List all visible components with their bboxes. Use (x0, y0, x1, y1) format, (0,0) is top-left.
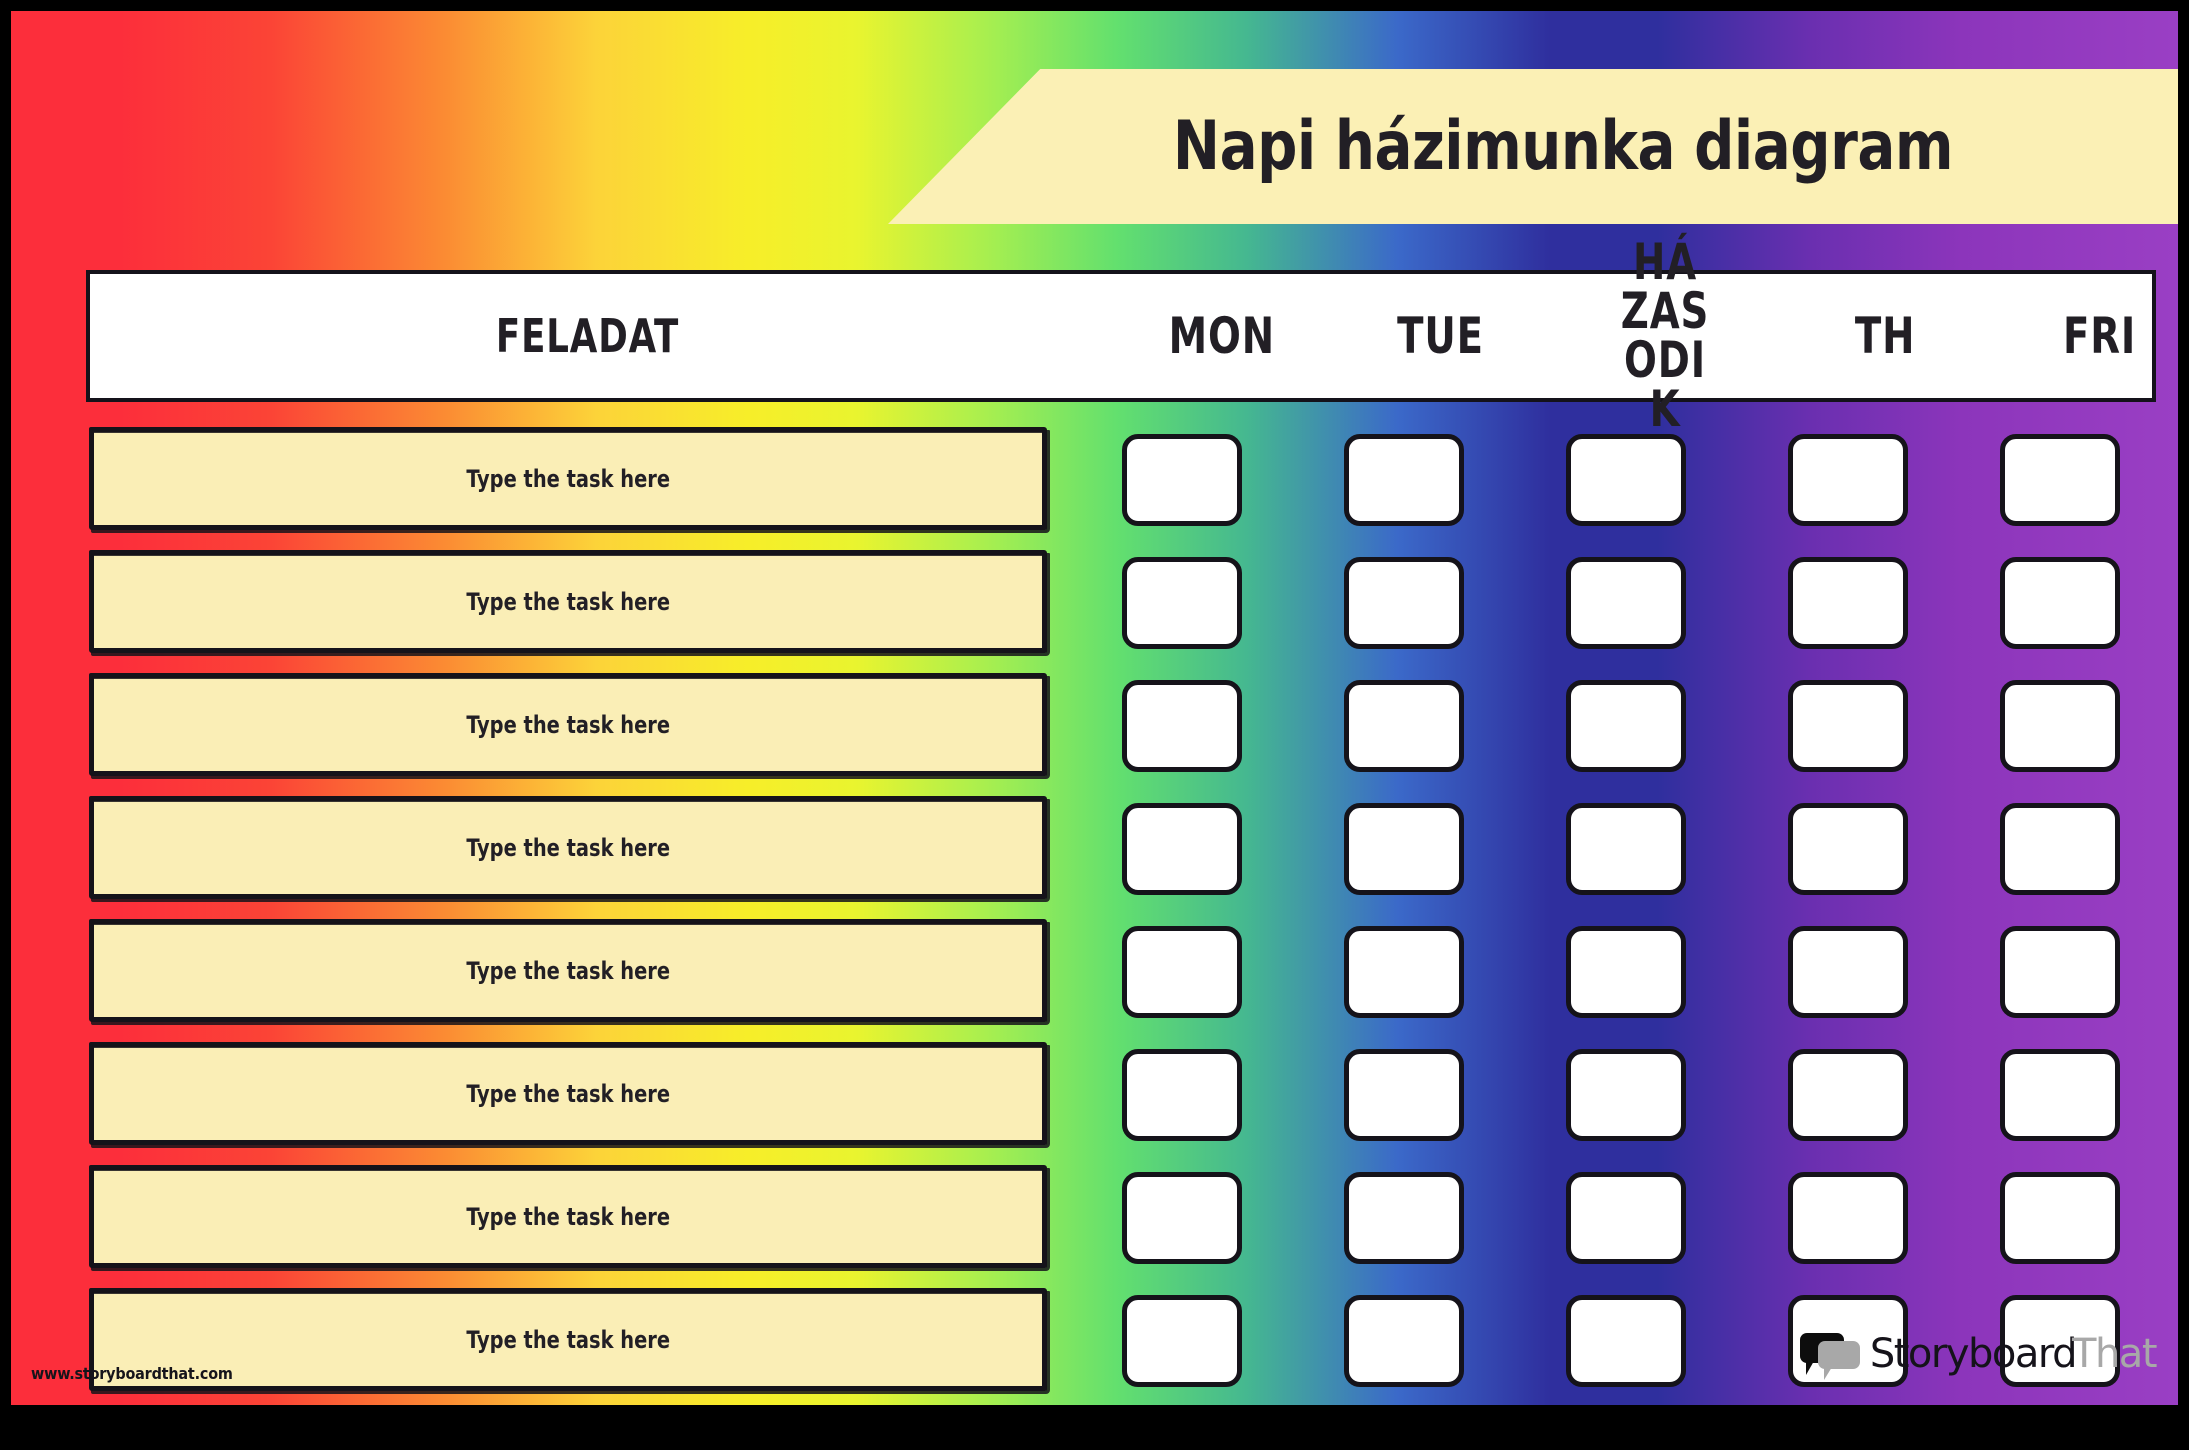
checkbox-hazasodik[interactable] (1566, 1049, 1686, 1141)
checkbox-hazasodik[interactable] (1566, 1172, 1686, 1264)
checkbox-tue[interactable] (1344, 1295, 1464, 1387)
speech-bubbles-icon (1798, 1331, 1864, 1377)
speech-bubble-front-icon (1818, 1341, 1860, 1369)
header-day-label-hazasodik: HÁZASODIK (1619, 238, 1712, 434)
header-day-label-fri: FRI (2063, 311, 2136, 361)
checkbox-mon[interactable] (1122, 557, 1242, 649)
checkbox-fri[interactable] (2000, 434, 2120, 526)
checkbox-tue[interactable] (1344, 926, 1464, 1018)
task-input-box[interactable]: Type the task here (93, 555, 1043, 649)
header-day-label-th: TH (1855, 311, 1915, 361)
header-cell-mon: MON (1137, 274, 1307, 398)
table-row: Type the task here (11, 918, 2178, 1041)
checkbox-th[interactable] (1788, 1049, 1908, 1141)
task-placeholder-text: Type the task here (466, 1203, 670, 1231)
checkbox-th[interactable] (1788, 803, 1908, 895)
checkbox-th[interactable] (1788, 926, 1908, 1018)
checkbox-th[interactable] (1788, 680, 1908, 772)
table-row: Type the task here (11, 1041, 2178, 1164)
checkbox-mon[interactable] (1122, 680, 1242, 772)
checkbox-fri[interactable] (2000, 557, 2120, 649)
checkbox-fri[interactable] (2000, 680, 2120, 772)
task-placeholder-text: Type the task here (466, 1326, 670, 1354)
task-input-box[interactable]: Type the task here (93, 1293, 1043, 1387)
header-cell-tue: TUE (1355, 274, 1525, 398)
checkbox-hazasodik[interactable] (1566, 803, 1686, 895)
checkbox-th[interactable] (1788, 557, 1908, 649)
checkbox-tue[interactable] (1344, 680, 1464, 772)
checkbox-hazasodik[interactable] (1566, 557, 1686, 649)
header-day-label-mon: MON (1169, 311, 1275, 361)
header-cell-th: TH (1800, 274, 1970, 398)
header-task-label: FELADAT (496, 309, 679, 363)
table-header-row: FELADAT MON TUE HÁZASODIK TH FRI (86, 270, 2156, 402)
task-placeholder-text: Type the task here (466, 1080, 670, 1108)
checkbox-tue[interactable] (1344, 434, 1464, 526)
logo-text-storyboard: Storyboard (1870, 1331, 2076, 1377)
checkbox-fri[interactable] (2000, 1049, 2120, 1141)
checkbox-hazasodik[interactable] (1566, 680, 1686, 772)
header-cell-fri: FRI (2015, 274, 2178, 398)
checkbox-mon[interactable] (1122, 926, 1242, 1018)
watermark-url: www.storyboardthat.com (31, 1364, 233, 1383)
task-input-box[interactable]: Type the task here (93, 1047, 1043, 1141)
checkbox-hazasodik[interactable] (1566, 926, 1686, 1018)
header-day-label-tue: TUE (1397, 311, 1484, 361)
checkbox-fri[interactable] (2000, 1172, 2120, 1264)
task-input-box[interactable]: Type the task here (93, 1170, 1043, 1264)
title-banner: Napi házimunka diagram (888, 69, 2178, 224)
table-row: Type the task here (11, 672, 2178, 795)
task-placeholder-text: Type the task here (466, 834, 670, 862)
header-cell-hazasodik: HÁZASODIK (1580, 274, 1750, 398)
task-input-box[interactable]: Type the task here (93, 924, 1043, 1018)
task-input-box[interactable]: Type the task here (93, 432, 1043, 526)
checkbox-hazasodik[interactable] (1566, 1295, 1686, 1387)
header-cell-task: FELADAT (90, 309, 1085, 363)
poster: Napi házimunka diagram FELADAT MON TUE H… (0, 0, 2189, 1450)
storyboardthat-logo: Storyboard That (1798, 1331, 2156, 1377)
table-row: Type the task here (11, 795, 2178, 918)
checkbox-tue[interactable] (1344, 1049, 1464, 1141)
checkbox-fri[interactable] (2000, 803, 2120, 895)
task-placeholder-text: Type the task here (466, 711, 670, 739)
checkbox-mon[interactable] (1122, 1049, 1242, 1141)
table-row: Type the task here (11, 1164, 2178, 1287)
checkbox-mon[interactable] (1122, 803, 1242, 895)
task-placeholder-text: Type the task here (466, 588, 670, 616)
checkbox-hazasodik[interactable] (1566, 434, 1686, 526)
checkbox-th[interactable] (1788, 1172, 1908, 1264)
checkbox-mon[interactable] (1122, 1172, 1242, 1264)
checkbox-mon[interactable] (1122, 434, 1242, 526)
table-body: Type the task hereType the task hereType… (11, 426, 2178, 1405)
checkbox-tue[interactable] (1344, 557, 1464, 649)
task-input-box[interactable]: Type the task here (93, 678, 1043, 772)
checkbox-tue[interactable] (1344, 1172, 1464, 1264)
page-title: Napi házimunka diagram (1173, 107, 1953, 186)
checkbox-mon[interactable] (1122, 1295, 1242, 1387)
checkbox-th[interactable] (1788, 434, 1908, 526)
checkbox-fri[interactable] (2000, 926, 2120, 1018)
task-placeholder-text: Type the task here (466, 465, 670, 493)
logo-text-that: That (2072, 1331, 2156, 1377)
task-input-box[interactable]: Type the task here (93, 801, 1043, 895)
rainbow-background: Napi házimunka diagram FELADAT MON TUE H… (11, 11, 2178, 1405)
table-row: Type the task here (11, 426, 2178, 549)
task-placeholder-text: Type the task here (466, 957, 670, 985)
table-row: Type the task here (11, 549, 2178, 672)
checkbox-tue[interactable] (1344, 803, 1464, 895)
